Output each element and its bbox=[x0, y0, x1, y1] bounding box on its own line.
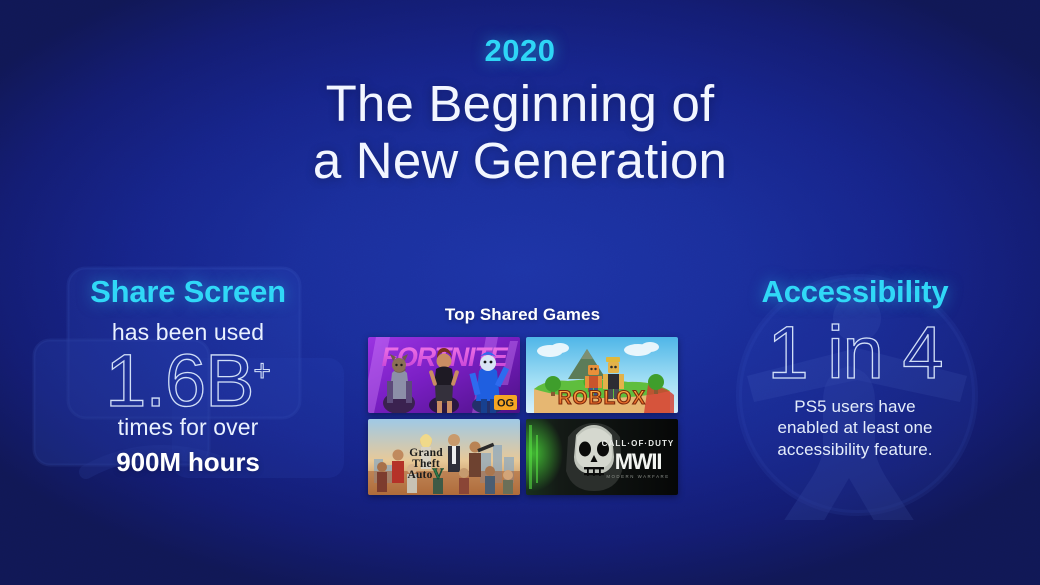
accessibility-description: PS5 users have enabled at least one acce… bbox=[690, 396, 1020, 461]
game-tile-fortnite[interactable]: Fortnite bbox=[368, 337, 520, 413]
share-screen-title: Share Screen bbox=[18, 274, 358, 310]
top-shared-games-panel: Top Shared Games Fortnite bbox=[360, 305, 685, 525]
infographic-slide: 2020 The Beginning of a New Generation S… bbox=[0, 0, 1040, 585]
share-screen-panel: Share Screen has been used 1.6B+ times f… bbox=[18, 256, 358, 526]
headline-line-2: a New Generation bbox=[0, 132, 1040, 189]
gta-v-logo: Grand Theft Auto V bbox=[407, 447, 444, 483]
fortnite-og-badge: OG bbox=[494, 395, 517, 410]
share-screen-stat-value: 1.6B bbox=[105, 339, 253, 422]
game-tile-roblox[interactable]: Roblox bbox=[526, 337, 678, 413]
accessibility-desc-line-1: PS5 users have bbox=[690, 396, 1020, 418]
call-of-duty-mwii-thumbnail: CALL·OF·DUTY MWII MODERN WARFARE bbox=[526, 419, 678, 495]
svg-text:V: V bbox=[432, 466, 444, 483]
top-shared-games-heading: Top Shared Games bbox=[360, 305, 685, 325]
svg-text:Auto: Auto bbox=[407, 469, 432, 481]
year-label: 2020 bbox=[0, 34, 1040, 68]
accessibility-desc-line-3: accessibility feature. bbox=[690, 439, 1020, 461]
share-screen-line-3: 900M hours bbox=[18, 447, 358, 478]
accessibility-title: Accessibility bbox=[690, 274, 1020, 310]
svg-text:OG: OG bbox=[496, 398, 513, 410]
roblox-thumbnail: ROBLOX bbox=[526, 337, 678, 413]
svg-text:MODERN WARFARE: MODERN WARFARE bbox=[606, 474, 669, 479]
accessibility-panel: Accessibility 1 in 4 PS5 users have enab… bbox=[690, 262, 1020, 522]
headline-line-1: The Beginning of bbox=[0, 75, 1040, 132]
svg-text:MWII: MWII bbox=[614, 449, 661, 474]
share-screen-stat-suffix: + bbox=[253, 355, 270, 388]
svg-text:ROBLOX: ROBLOX bbox=[557, 388, 645, 409]
page-title: The Beginning of a New Generation bbox=[0, 75, 1040, 189]
game-tile-grand-theft-auto-v[interactable]: Grand Theft Auto V bbox=[368, 419, 520, 495]
accessibility-desc-line-2: enabled at least one bbox=[690, 417, 1020, 439]
svg-text:CALL·OF·DUTY: CALL·OF·DUTY bbox=[601, 439, 674, 448]
share-screen-stat: 1.6B+ bbox=[105, 344, 271, 418]
fortnite-thumbnail: FORTNITE bbox=[368, 337, 520, 413]
game-tile-call-of-duty-mwii[interactable]: Call of Duty: Modern Warfare II bbox=[526, 419, 678, 495]
slide-header: 2020 The Beginning of a New Generation bbox=[0, 34, 1040, 189]
accessibility-stat: 1 in 4 bbox=[767, 316, 942, 390]
top-shared-games-grid: Fortnite bbox=[360, 337, 685, 495]
gta-v-thumbnail: Grand Theft Auto V bbox=[368, 419, 520, 495]
